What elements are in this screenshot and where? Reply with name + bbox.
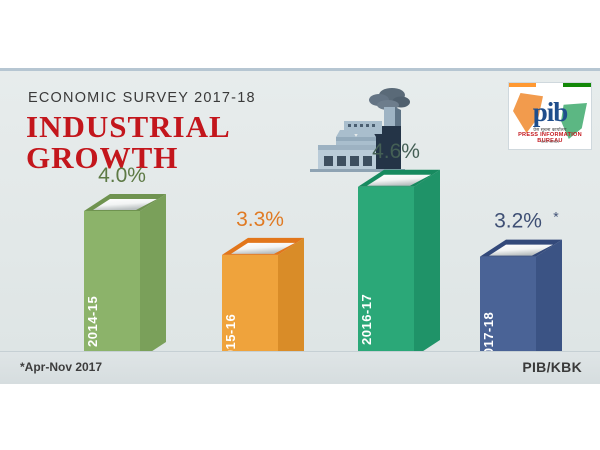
bar-chart-canvas: 2014-154.0%2015-163.3%2016-174.6%2017-18… — [0, 71, 600, 384]
bar-category-label: 2014-15 — [85, 296, 100, 347]
bar-value-label: 4.0% — [98, 164, 146, 187]
bar-side-face — [140, 194, 166, 359]
footnote-text: *Apr-Nov 2017 — [20, 360, 102, 374]
bar-chart: 2014-154.0%2015-163.3%2016-174.6%2017-18… — [0, 71, 600, 384]
credit-text: PIB/KBK — [522, 359, 582, 375]
footer-bar: *Apr-Nov 2017 PIB/KBK — [0, 351, 600, 384]
bar-category-label: 2016-17 — [359, 294, 374, 345]
bar-value-label: 4.6% — [372, 140, 420, 163]
bar-side-face — [414, 170, 440, 357]
bar-value-label: 3.3% — [236, 208, 284, 231]
bar-annotation-marker: * — [553, 209, 559, 225]
bar-value-label: 3.2% — [494, 210, 542, 233]
infographic-card: ECONOMIC SURVEY 2017-18 INDUSTRIAL GROWT… — [0, 68, 600, 384]
